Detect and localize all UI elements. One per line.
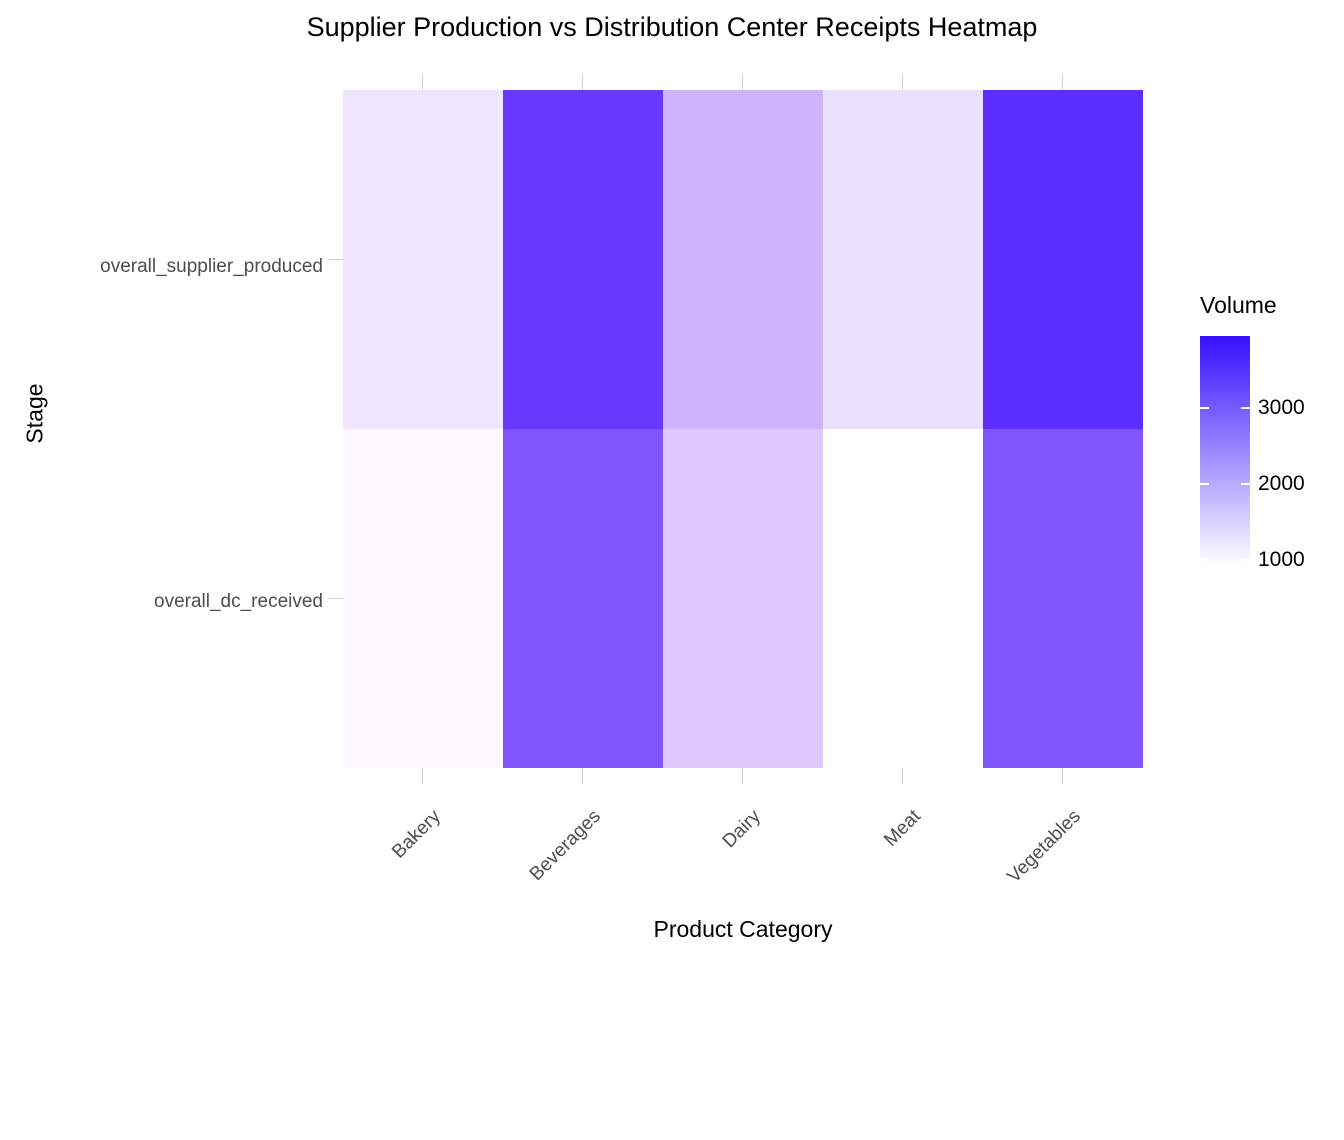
heatmap-panel	[343, 90, 1143, 768]
heatmap-cell-meat-supplier-produced	[823, 90, 983, 429]
y-axis-tick-overall-supplier-produced	[329, 259, 343, 260]
legend-tick-mark-1000-right	[1241, 559, 1250, 561]
legend-tick-label-3000: 3000	[1258, 396, 1305, 420]
heatmap-row-overall-dc-received	[343, 429, 1143, 768]
x-axis-tick-top-vegetables	[1062, 74, 1063, 90]
x-axis-tick-top-meat	[902, 74, 903, 90]
heatmap-cell-beverages-supplier-produced	[503, 90, 663, 429]
heatmap-cell-dairy-supplier-produced	[663, 90, 823, 429]
heatmap-cell-dairy-dc-received	[663, 429, 823, 768]
heatmap-row-overall-supplier-produced	[343, 90, 1143, 429]
y-axis-title: Stage	[22, 354, 49, 474]
page-title: Supplier Production vs Distribution Cent…	[0, 12, 1344, 43]
y-axis-label-overall-supplier-produced: overall_supplier_produced	[100, 256, 323, 278]
legend-tick-mark-3000-right	[1241, 407, 1250, 409]
x-axis-label-beverages: Beverages	[272, 806, 606, 1140]
heatmap-cell-meat-dc-received	[823, 429, 983, 768]
legend-tick-mark-2000-left	[1200, 483, 1209, 485]
x-axis-tick-beverages	[582, 768, 583, 784]
x-axis-title: Product Category	[343, 916, 1143, 943]
x-axis-tick-top-dairy	[742, 74, 743, 90]
x-axis-tick-vegetables	[1062, 768, 1063, 784]
x-axis-label-vegetables: Vegetables	[752, 806, 1086, 1140]
x-axis-tick-top-bakery	[422, 74, 423, 90]
x-axis-tick-bakery	[422, 768, 423, 784]
legend-tick-mark-3000-left	[1200, 407, 1209, 409]
y-axis-tick-overall-dc-received	[329, 598, 343, 599]
legend-title: Volume	[1200, 292, 1277, 319]
heatmap-cell-bakery-dc-received	[343, 429, 503, 768]
legend-tick-mark-2000-right	[1241, 483, 1250, 485]
heatmap-cell-beverages-dc-received	[503, 429, 663, 768]
x-axis-label-bakery: Bakery	[112, 806, 446, 1140]
heatmap-cell-bakery-supplier-produced	[343, 90, 503, 429]
x-axis-tick-meat	[902, 768, 903, 784]
legend-tick-label-1000: 1000	[1258, 548, 1305, 572]
y-axis-label-overall-dc-received: overall_dc_received	[154, 591, 323, 613]
heatmap-cell-vegetables-dc-received	[983, 429, 1143, 768]
legend-tick-mark-1000-left	[1200, 559, 1209, 561]
x-axis-tick-top-beverages	[582, 74, 583, 90]
x-axis-label-meat: Meat	[592, 806, 926, 1140]
x-axis-tick-dairy	[742, 768, 743, 784]
legend-tick-label-2000: 2000	[1258, 472, 1305, 496]
x-axis-label-dairy: Dairy	[432, 806, 766, 1140]
legend-colorbar	[1200, 336, 1250, 566]
heatmap-cell-vegetables-supplier-produced	[983, 90, 1143, 429]
